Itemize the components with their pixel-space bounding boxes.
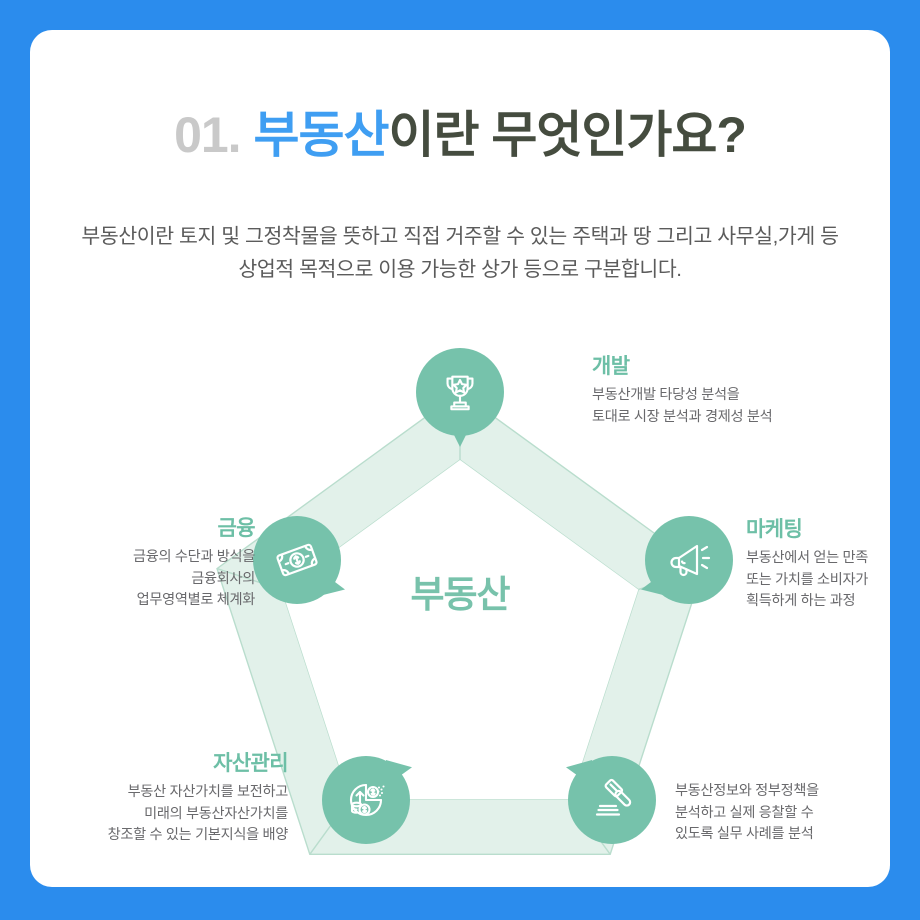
megaphone-icon <box>645 516 733 604</box>
node-text-finance: 금융 금융의 수단과 방식을 금융회사의 업무영역별로 체계화 <box>5 517 255 612</box>
text-line: 부동산정보와 정부정책을 <box>675 781 895 803</box>
node-body-legal: 부동산정보와 정부정책을 분석하고 실제 응찰할 수 있도록 실무 사례를 분석 <box>675 781 895 846</box>
text-line: 또는 가치를 소비자가 <box>746 570 920 592</box>
text-line: 금융의 수단과 방식을 <box>5 547 255 569</box>
node-heading-marketing: 마케팅 <box>746 518 920 541</box>
title-highlight: 부동산 <box>253 107 388 163</box>
pentagon-inner-outline <box>282 460 639 799</box>
node-pin-marketing[interactable] <box>645 516 733 604</box>
title-number: 01. <box>174 107 241 163</box>
center-label: 부동산 <box>360 576 560 613</box>
page-title: 01. 부동산이란 무엇인가요? <box>30 110 890 160</box>
node-body-development: 부동산개발 타당성 분석을 토대로 시장 분석과 경제성 분석 <box>592 385 852 428</box>
node-heading-finance: 금융 <box>5 517 255 540</box>
text-line: 금융회사의 <box>5 569 255 591</box>
infographic-card: 01. 부동산이란 무엇인가요? 부동산이란 토지 및 그정착물을 뜻하고 직접… <box>30 30 890 887</box>
node-pin-development[interactable] <box>416 348 504 436</box>
text-line: 획득하게 하는 과정 <box>746 591 920 613</box>
trophy-icon <box>416 348 504 436</box>
node-heading-asset-management: 자산관리 <box>38 752 288 775</box>
text-line: 부동산 자산가치를 보전하고 <box>38 782 288 804</box>
text-line: 미래의 부동산자산가치를 <box>38 804 288 826</box>
node-text-legal: 부동산정보와 정부정책을 분석하고 실제 응찰할 수 있도록 실무 사례를 분석 <box>675 781 895 846</box>
node-body-finance: 금융의 수단과 방식을 금융회사의 업무영역별로 체계화 <box>5 547 255 612</box>
pie-chart-icon <box>322 756 410 844</box>
title-rest: 이란 무엇인가요? <box>388 107 745 163</box>
text-line: 분석하고 실제 응찰할 수 <box>675 803 895 825</box>
text-line: 부동산개발 타당성 분석을 <box>592 385 852 407</box>
node-text-asset-management: 자산관리 부동산 자산가치를 보전하고 미래의 부동산자산가치를 창조할 수 있… <box>38 752 288 847</box>
node-pin-legal[interactable] <box>568 756 656 844</box>
banknote-icon <box>253 516 341 604</box>
node-pin-finance[interactable] <box>253 516 341 604</box>
text-line: 업무영역별로 체계화 <box>5 590 255 612</box>
node-heading-development: 개발 <box>592 355 852 378</box>
pentagon-core <box>282 460 639 799</box>
text-line: 창조할 수 있는 기본지식을 배양 <box>38 825 288 847</box>
node-body-asset-management: 부동산 자산가치를 보전하고 미래의 부동산자산가치를 창조할 수 있는 기본지… <box>38 782 288 847</box>
node-body-marketing: 부동산에서 얻는 만족 또는 가치를 소비자가 획득하게 하는 과정 <box>746 548 920 613</box>
text-line: 있도록 실무 사례를 분석 <box>675 824 895 846</box>
node-text-development: 개발 부동산개발 타당성 분석을 토대로 시장 분석과 경제성 분석 <box>592 355 852 428</box>
text-line: 부동산에서 얻는 만족 <box>746 548 920 570</box>
gavel-icon <box>568 756 656 844</box>
page-subtitle: 부동산이란 토지 및 그정착물을 뜻하고 직접 거주할 수 있는 주택과 땅 그… <box>78 220 842 286</box>
text-line: 토대로 시장 분석과 경제성 분석 <box>592 407 852 429</box>
node-text-marketing: 마케팅 부동산에서 얻는 만족 또는 가치를 소비자가 획득하게 하는 과정 <box>746 518 920 613</box>
node-pin-asset-management[interactable] <box>322 756 410 844</box>
